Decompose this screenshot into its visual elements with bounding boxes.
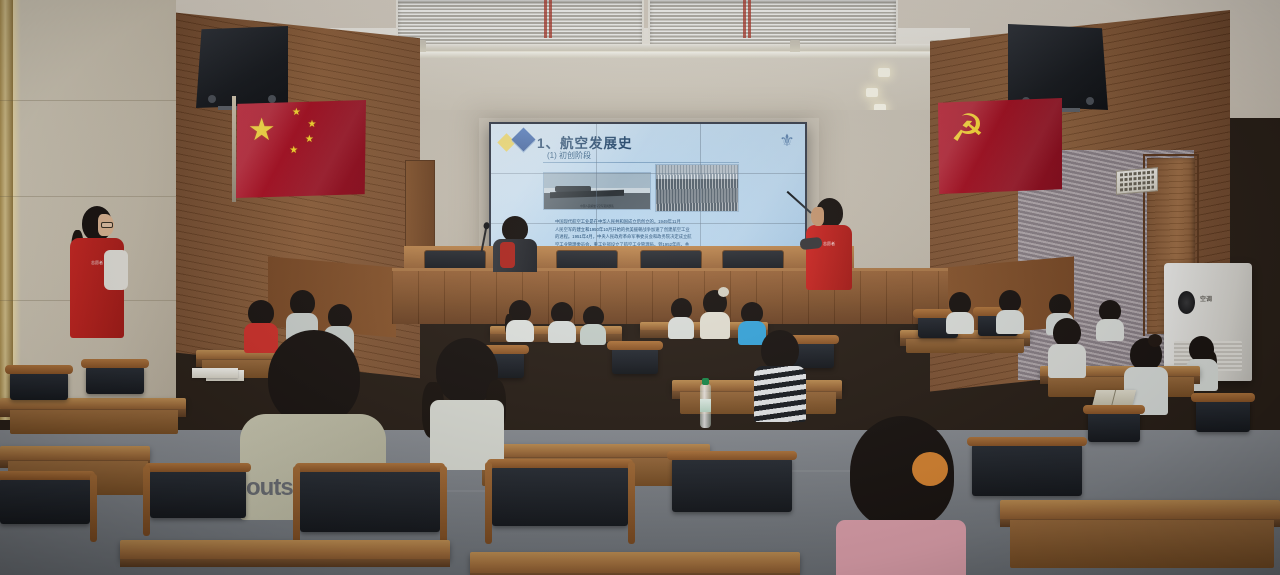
ceiling-downlight bbox=[878, 68, 890, 77]
head bbox=[761, 330, 799, 370]
empty-desk bbox=[0, 446, 150, 461]
empty-desk bbox=[120, 540, 450, 560]
empty-desk bbox=[1010, 520, 1274, 568]
red-vest-patch bbox=[500, 242, 515, 268]
wall-speaker-left bbox=[196, 26, 288, 108]
auditorium-chair[interactable] bbox=[10, 372, 68, 400]
torso bbox=[668, 317, 694, 339]
person-student-striped bbox=[754, 330, 806, 420]
student-desk bbox=[906, 339, 1024, 353]
person-student bbox=[700, 290, 730, 338]
slide-body-line: 的进程。1951年4月，中央人民政府革命军事委员会和政务院决定成立航 bbox=[545, 233, 741, 241]
hair-band bbox=[718, 287, 729, 297]
vest-logo-text: 志愿者 bbox=[91, 260, 103, 265]
person-volunteer-left: 志愿者 bbox=[68, 206, 130, 338]
auditorium-chair[interactable] bbox=[86, 366, 144, 394]
torso bbox=[700, 312, 730, 339]
torso-striped-shirt bbox=[754, 366, 806, 422]
wall-speaker-right bbox=[1008, 24, 1108, 110]
auditorium-chair[interactable] bbox=[612, 348, 658, 374]
person-presenter: 志愿者 bbox=[806, 198, 858, 290]
flag-sheen bbox=[236, 100, 366, 198]
gold-wall-trim bbox=[0, 0, 13, 420]
slide-subtitle: (1) 初创阶段 bbox=[547, 150, 591, 161]
auditorium-chair[interactable] bbox=[0, 478, 90, 524]
handout-paper bbox=[192, 368, 238, 378]
person-student bbox=[668, 298, 694, 338]
person-student bbox=[548, 302, 576, 342]
auditorium-chair[interactable] bbox=[972, 444, 1082, 496]
slide-photo-caption: 中国人民解放军空军受阅部队 bbox=[544, 204, 650, 208]
aircraft-shape bbox=[555, 186, 591, 192]
auditorium-chair[interactable] bbox=[492, 466, 628, 526]
red-volunteer-vest: 志愿者 bbox=[806, 225, 852, 290]
wall-light-glow bbox=[13, 0, 21, 420]
eyeglasses-icon bbox=[101, 222, 113, 228]
person-student-ponytail bbox=[424, 338, 510, 468]
torso bbox=[506, 320, 534, 342]
lecture-hall-scene: ★ ★ ★ ★ ★ ☭ 空调 1、航空发展史 (1) 初创阶段 ⚜ bbox=[0, 0, 1280, 575]
auditorium-chair[interactable] bbox=[150, 470, 246, 518]
ac-dial-icon bbox=[1178, 291, 1195, 314]
wall-door-sign bbox=[1116, 167, 1158, 195]
ac-unit-label: 空调 bbox=[1200, 294, 1212, 303]
face bbox=[811, 207, 824, 226]
empty-desk bbox=[1000, 500, 1280, 520]
person-student-foreground bbox=[836, 416, 966, 575]
torso bbox=[996, 310, 1024, 334]
person-student bbox=[506, 300, 534, 340]
person-student bbox=[1048, 318, 1086, 376]
empty-desk bbox=[10, 410, 178, 434]
empty-desk bbox=[470, 552, 800, 574]
ceiling-inner-panel bbox=[398, 58, 946, 118]
ceiling-downlight bbox=[866, 88, 878, 97]
auditorium-chair[interactable] bbox=[300, 470, 440, 532]
flag-pole bbox=[232, 96, 236, 202]
slide-photo-aircraft: 中国人民解放军空军受阅部队 bbox=[543, 172, 651, 210]
diamond-accent-blue-icon bbox=[511, 127, 535, 151]
hair-bun bbox=[1148, 334, 1162, 347]
china-national-flag: ★ ★ ★ ★ ★ bbox=[236, 100, 366, 198]
person-student bbox=[580, 306, 606, 344]
person-student bbox=[1096, 300, 1124, 340]
torso bbox=[580, 324, 606, 345]
head bbox=[268, 330, 360, 426]
auditorium-chair[interactable] bbox=[1088, 412, 1140, 442]
shirt-sleeve bbox=[104, 250, 128, 290]
auditorium-chair[interactable] bbox=[672, 458, 792, 512]
institution-emblem-icon: ⚜ bbox=[776, 130, 798, 152]
vest-logo-text: 志愿者 bbox=[823, 241, 835, 246]
water-bottle[interactable] bbox=[700, 384, 711, 428]
head bbox=[1053, 318, 1081, 347]
torso bbox=[548, 321, 576, 343]
torso bbox=[946, 312, 974, 334]
person-student bbox=[996, 290, 1024, 332]
person-seated-at-podium bbox=[493, 216, 537, 272]
slide-body-line: 人民空军的建立和1950年10月开始的抗美援朝战争加速了创建航空工业 bbox=[545, 226, 741, 234]
auditorium-chair[interactable] bbox=[1196, 400, 1250, 432]
slide-divider bbox=[543, 162, 739, 163]
torso bbox=[1048, 344, 1086, 378]
torso bbox=[1096, 319, 1124, 341]
slide-photo-ceremony bbox=[655, 164, 739, 212]
slide-title: 1、航空发展史 bbox=[537, 132, 633, 152]
far-left-wall bbox=[0, 0, 176, 400]
cpc-party-flag: ☭ bbox=[938, 98, 1062, 194]
flag-sheen bbox=[938, 98, 1062, 194]
torso bbox=[836, 520, 966, 575]
person-student bbox=[946, 292, 974, 332]
orange-hair-scrunchie bbox=[912, 452, 948, 486]
